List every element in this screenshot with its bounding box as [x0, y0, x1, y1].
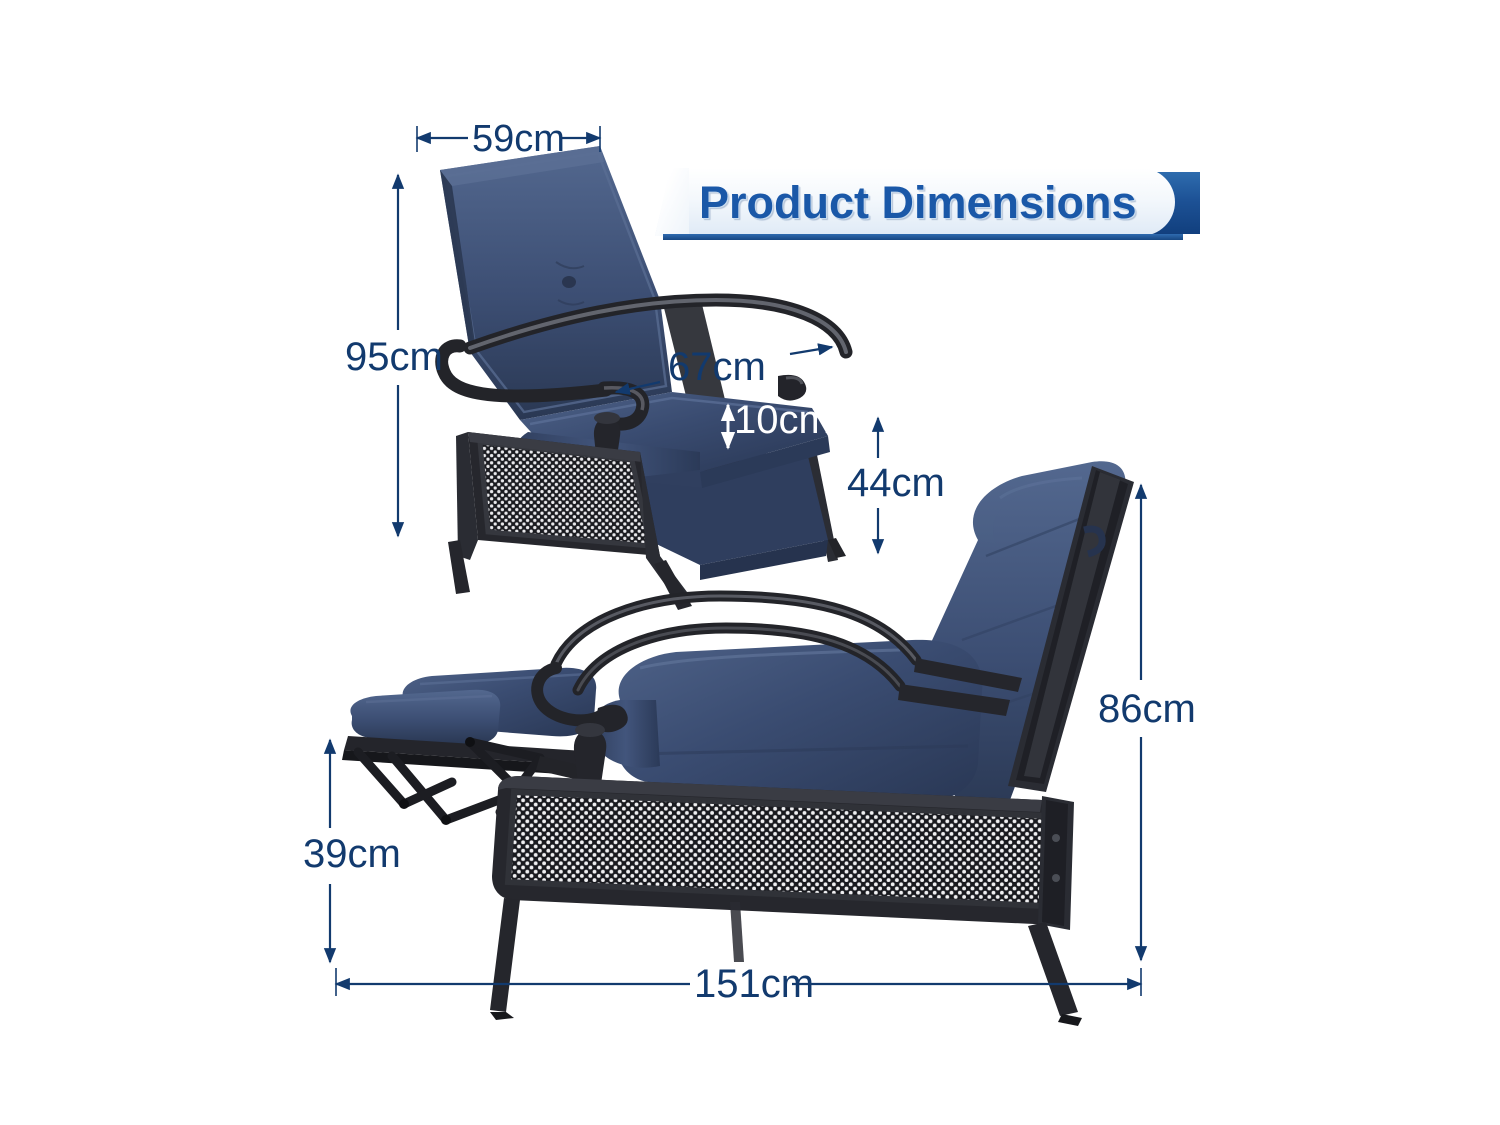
dimension-label-39cm: 39cm	[303, 832, 401, 877]
dimension-label-67cm: 67cm	[668, 345, 766, 390]
diagram-canvas: 59cm 95cm 67cm 10cm 44cm 86cm 39cm 151cm…	[0, 0, 1500, 1125]
dimension-label-95cm: 95cm	[345, 335, 443, 380]
dimension-label-10cm: 10cm	[734, 398, 832, 443]
banner-title: Product Dimensions	[699, 174, 1169, 232]
dimension-label-86cm: 86cm	[1098, 687, 1196, 732]
product-dimensions-banner: Product Dimensions	[655, 168, 1200, 240]
dimension-label-59cm: 59cm	[472, 118, 565, 161]
banner-underline	[663, 234, 1183, 240]
dimension-label-44cm: 44cm	[847, 461, 945, 506]
dimension-label-151cm: 151cm	[694, 962, 814, 1007]
